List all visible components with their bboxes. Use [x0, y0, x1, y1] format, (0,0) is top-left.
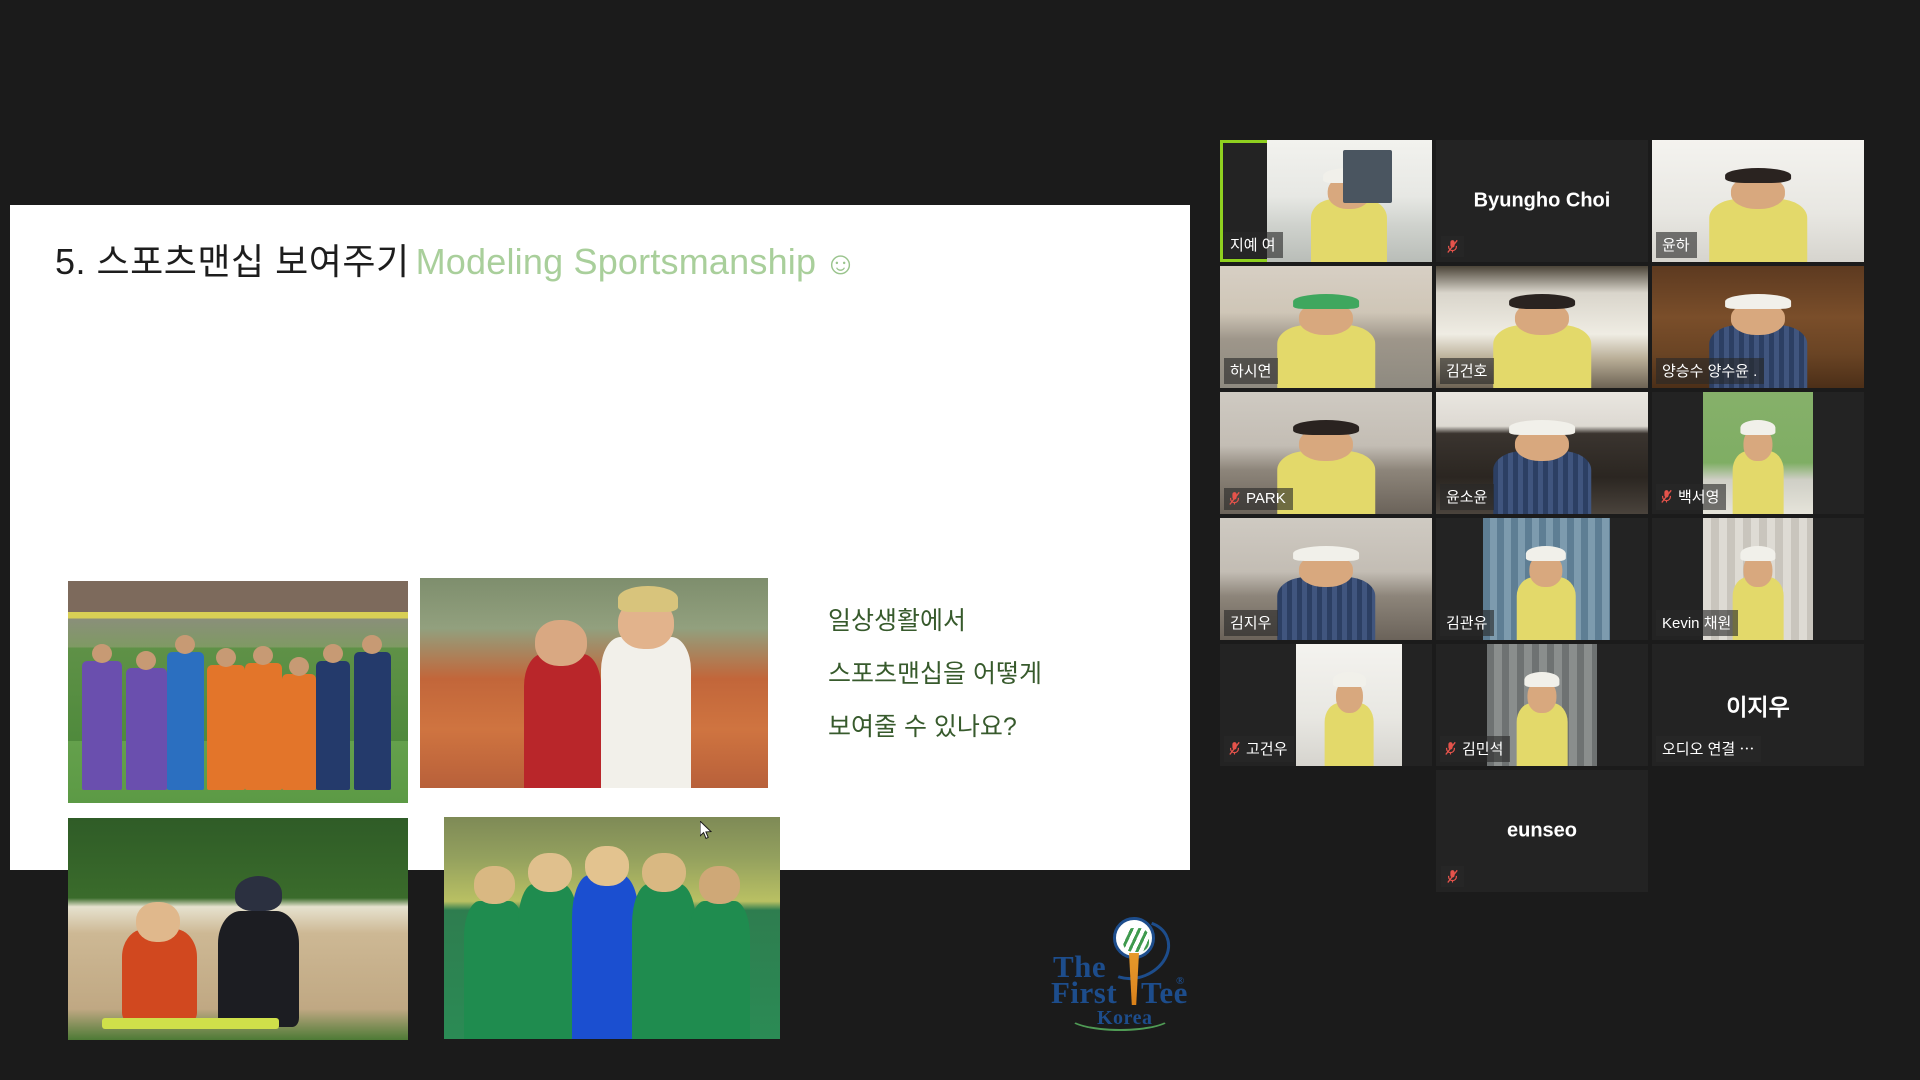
participant-tile[interactable]: 백서영	[1652, 392, 1864, 514]
photo-soccer-team-huddle	[444, 817, 780, 1039]
photo-softball-players-kneeling	[68, 818, 408, 1040]
participant-silhouette	[1709, 199, 1807, 262]
golf-ball-globe-icon	[1113, 917, 1155, 959]
audio-status-label[interactable]: 오디오 연결 ⋯	[1656, 736, 1761, 762]
slide-title-korean: 5. 스포츠맨십 보여주기	[55, 241, 410, 282]
participant-silhouette	[1733, 451, 1784, 514]
participant-name-label: 양승수 양수윤 .	[1656, 358, 1764, 384]
participant-name-label: 김민석	[1440, 736, 1510, 762]
participant-silhouette	[1493, 325, 1591, 388]
screen: 5. 스포츠맨십 보여주기Modeling Sportsmanship☺	[0, 0, 1920, 1080]
participant-tile[interactable]: 양승수 양수윤 .	[1652, 266, 1864, 388]
participant-silhouette	[1277, 325, 1375, 388]
participant-name-text: 지예 여	[1230, 234, 1276, 255]
participant-silhouette	[1733, 577, 1784, 640]
participant-row: 하시연김건호양승수 양수윤 .	[1220, 266, 1812, 388]
participant-name-label: 백서영	[1656, 484, 1726, 510]
participant-tile[interactable]: 김관유	[1436, 518, 1648, 640]
logo-text-korea: Korea	[1097, 1007, 1152, 1030]
participant-silhouette	[1311, 199, 1387, 262]
participant-name-label: 지예 여	[1224, 232, 1283, 258]
muted-mic-icon	[1660, 489, 1673, 504]
zoom-participant-grid: 지예 여Byungho Choi윤하하시연김건호양승수 양수윤 .PARK윤소윤…	[1220, 140, 1812, 896]
participant-silhouette	[1517, 703, 1568, 766]
participant-name-text: 백서영	[1678, 486, 1719, 507]
participant-name-text: 김지우	[1230, 612, 1271, 633]
participant-row: eunseo	[1220, 770, 1812, 892]
participant-row: 지예 여Byungho Choi윤하	[1220, 140, 1812, 262]
muted-mic-icon	[1444, 741, 1457, 756]
participant-tile[interactable]: 윤하	[1652, 140, 1864, 262]
participant-tile[interactable]: eunseo	[1436, 770, 1648, 892]
participant-name-centered: eunseo	[1436, 820, 1648, 843]
participant-tile-empty	[1220, 770, 1432, 892]
participant-row: 고건우김민석이지우오디오 연결 ⋯	[1220, 644, 1812, 766]
participant-name-label: 김지우	[1224, 610, 1278, 636]
body-line-1: 일상생활에서	[828, 595, 1042, 648]
participant-name-text: PARK	[1246, 490, 1286, 507]
muted-mic-icon	[1228, 741, 1241, 756]
participant-tile[interactable]: 윤소윤	[1436, 392, 1648, 514]
participant-name-text: 김건호	[1446, 360, 1487, 381]
participant-tile[interactable]: 김지우	[1220, 518, 1432, 640]
participant-tile[interactable]: 김건호	[1436, 266, 1648, 388]
logo-registered-mark: ®	[1176, 975, 1185, 987]
muted-mic-icon	[1446, 239, 1459, 254]
participant-silhouette	[1277, 577, 1375, 640]
participant-row: PARK윤소윤백서영	[1220, 392, 1812, 514]
participant-tile[interactable]: 고건우	[1220, 644, 1432, 766]
participant-tile[interactable]: 이지우오디오 연결 ⋯	[1652, 644, 1864, 766]
muted-mic-icon	[1228, 491, 1241, 506]
photo-runner-helping-runner	[420, 578, 768, 788]
participant-name-label: 김관유	[1440, 610, 1494, 636]
participant-name-label: 고건우	[1224, 736, 1294, 762]
participant-tile[interactable]: Byungho Choi	[1436, 140, 1648, 262]
participant-silhouette	[1517, 577, 1576, 640]
participant-silhouette	[1493, 451, 1591, 514]
presentation-slide: 5. 스포츠맨십 보여주기Modeling Sportsmanship☺	[10, 205, 1190, 870]
participant-name-text: 윤소윤	[1446, 486, 1487, 507]
participant-tile[interactable]: Kevin 채원	[1652, 518, 1864, 640]
participant-name-centered: Byungho Choi	[1436, 190, 1648, 213]
muted-mic-icon	[1446, 869, 1459, 884]
participant-name-text: 고건우	[1246, 738, 1287, 759]
participant-name-text: 하시연	[1230, 360, 1271, 381]
body-line-2: 스포츠맨십을 어떻게	[828, 648, 1042, 701]
participant-name-label: 윤소윤	[1440, 484, 1494, 510]
participant-name-label: Kevin 채원	[1656, 610, 1738, 636]
participant-tile[interactable]: 지예 여	[1220, 140, 1432, 262]
slide-body-text: 일상생활에서 스포츠맨십을 어떻게 보여줄 수 있나요?	[828, 595, 1042, 754]
mute-indicator	[1441, 236, 1464, 257]
golf-tee-icon	[1129, 953, 1139, 1005]
the-first-tee-korea-logo: The First Tee ® Korea	[1045, 915, 1185, 1033]
participant-name-text: 김민석	[1462, 738, 1503, 759]
participant-tile[interactable]: PARK	[1220, 392, 1432, 514]
body-line-3: 보여줄 수 있나요?	[828, 701, 1042, 754]
participant-name-label: 윤하	[1656, 232, 1697, 258]
slide-title-english: Modeling Sportsmanship	[416, 241, 817, 282]
participant-row: 김지우김관유Kevin 채원	[1220, 518, 1812, 640]
participant-name-text: Kevin 채원	[1662, 612, 1731, 633]
participant-name-label: 하시연	[1224, 358, 1278, 384]
video-feed	[1296, 644, 1402, 766]
slide-title: 5. 스포츠맨십 보여주기Modeling Sportsmanship☺	[55, 233, 857, 285]
photo-youth-teams-handshake	[68, 581, 408, 803]
participant-name-text: 양승수 양수윤 .	[1662, 360, 1757, 381]
participant-name-text: 김관유	[1446, 612, 1487, 633]
participant-name-label: 김건호	[1440, 358, 1494, 384]
video-feed	[1483, 518, 1610, 640]
participant-tile[interactable]: 김민석	[1436, 644, 1648, 766]
participant-name-text: 윤하	[1662, 234, 1690, 255]
participant-tile[interactable]: 하시연	[1220, 266, 1432, 388]
participant-tile-empty	[1652, 770, 1864, 892]
participant-silhouette	[1325, 703, 1374, 766]
participant-name-centered: 이지우	[1652, 688, 1864, 722]
video-feed	[1267, 140, 1432, 262]
smiley-face-icon: ☺	[824, 245, 857, 281]
participant-name-label: PARK	[1224, 488, 1293, 510]
mute-indicator	[1441, 866, 1464, 887]
